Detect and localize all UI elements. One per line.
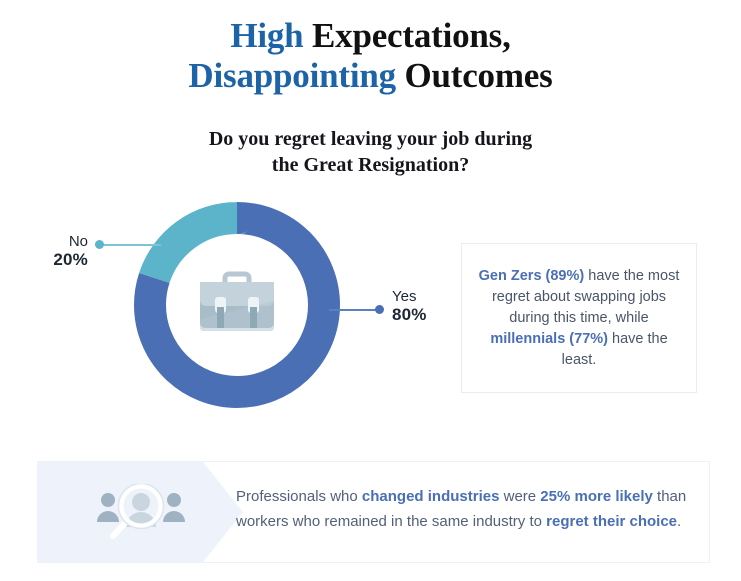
donut-label-yes-value: 80% <box>392 306 472 324</box>
person-right-icon <box>163 493 185 522</box>
title-line-2: Disappointing Outcomes <box>0 56 741 96</box>
infographic-canvas: High Expectations, Disappointing Outcome… <box>0 0 741 581</box>
page-title: High Expectations, Disappointing Outcome… <box>0 16 741 96</box>
leader-line-yes <box>329 309 379 311</box>
donut-chart <box>134 202 340 408</box>
banner-plain-4: . <box>677 513 681 530</box>
generation-callout-text: Gen Zers (89%) have the most regret abou… <box>462 266 696 371</box>
donut-label-no-name: No <box>10 233 88 251</box>
generation-callout-box: Gen Zers (89%) have the most regret abou… <box>461 243 697 393</box>
industry-change-text: Professionals who changed industries wer… <box>236 484 691 534</box>
title-rest-2: Outcomes <box>396 56 553 95</box>
banner-plain-1: Professionals who <box>236 488 362 505</box>
banner-bold-changed-industries: changed industries <box>362 488 500 505</box>
title-highlight-2: Disappointing <box>188 56 396 95</box>
donut-chart-svg <box>134 202 340 408</box>
donut-label-no: No 20% <box>10 233 88 269</box>
title-highlight-1: High <box>230 16 303 55</box>
leader-dot-yes <box>375 305 384 314</box>
chart-question: Do you regret leaving your job during th… <box>0 126 741 178</box>
leader-line-no <box>101 244 161 246</box>
banner-plain-2: were <box>499 488 540 505</box>
question-line-2: the Great Resignation? <box>0 152 741 178</box>
title-line-1: High Expectations, <box>0 16 741 56</box>
briefcase-icon <box>200 274 274 331</box>
question-line-1: Do you regret leaving your job during <box>0 126 741 152</box>
people-search-icon <box>96 484 186 542</box>
donut-label-no-value: 20% <box>10 251 88 269</box>
leader-dot-no <box>95 240 104 249</box>
industry-change-banner: Professionals who changed industries wer… <box>37 461 710 563</box>
donut-label-yes-name: Yes <box>392 288 472 306</box>
donut-label-yes: Yes 80% <box>392 288 472 324</box>
banner-bold-25-percent: 25% more likely <box>540 488 653 505</box>
banner-bold-regret-choice: regret their choice <box>546 513 677 530</box>
title-rest-1: Expectations, <box>303 16 510 55</box>
person-left-icon <box>97 493 119 522</box>
callout-bold-millennials: millennials (77%) <box>490 331 608 347</box>
callout-bold-genz: Gen Zers (89%) <box>479 268 585 284</box>
